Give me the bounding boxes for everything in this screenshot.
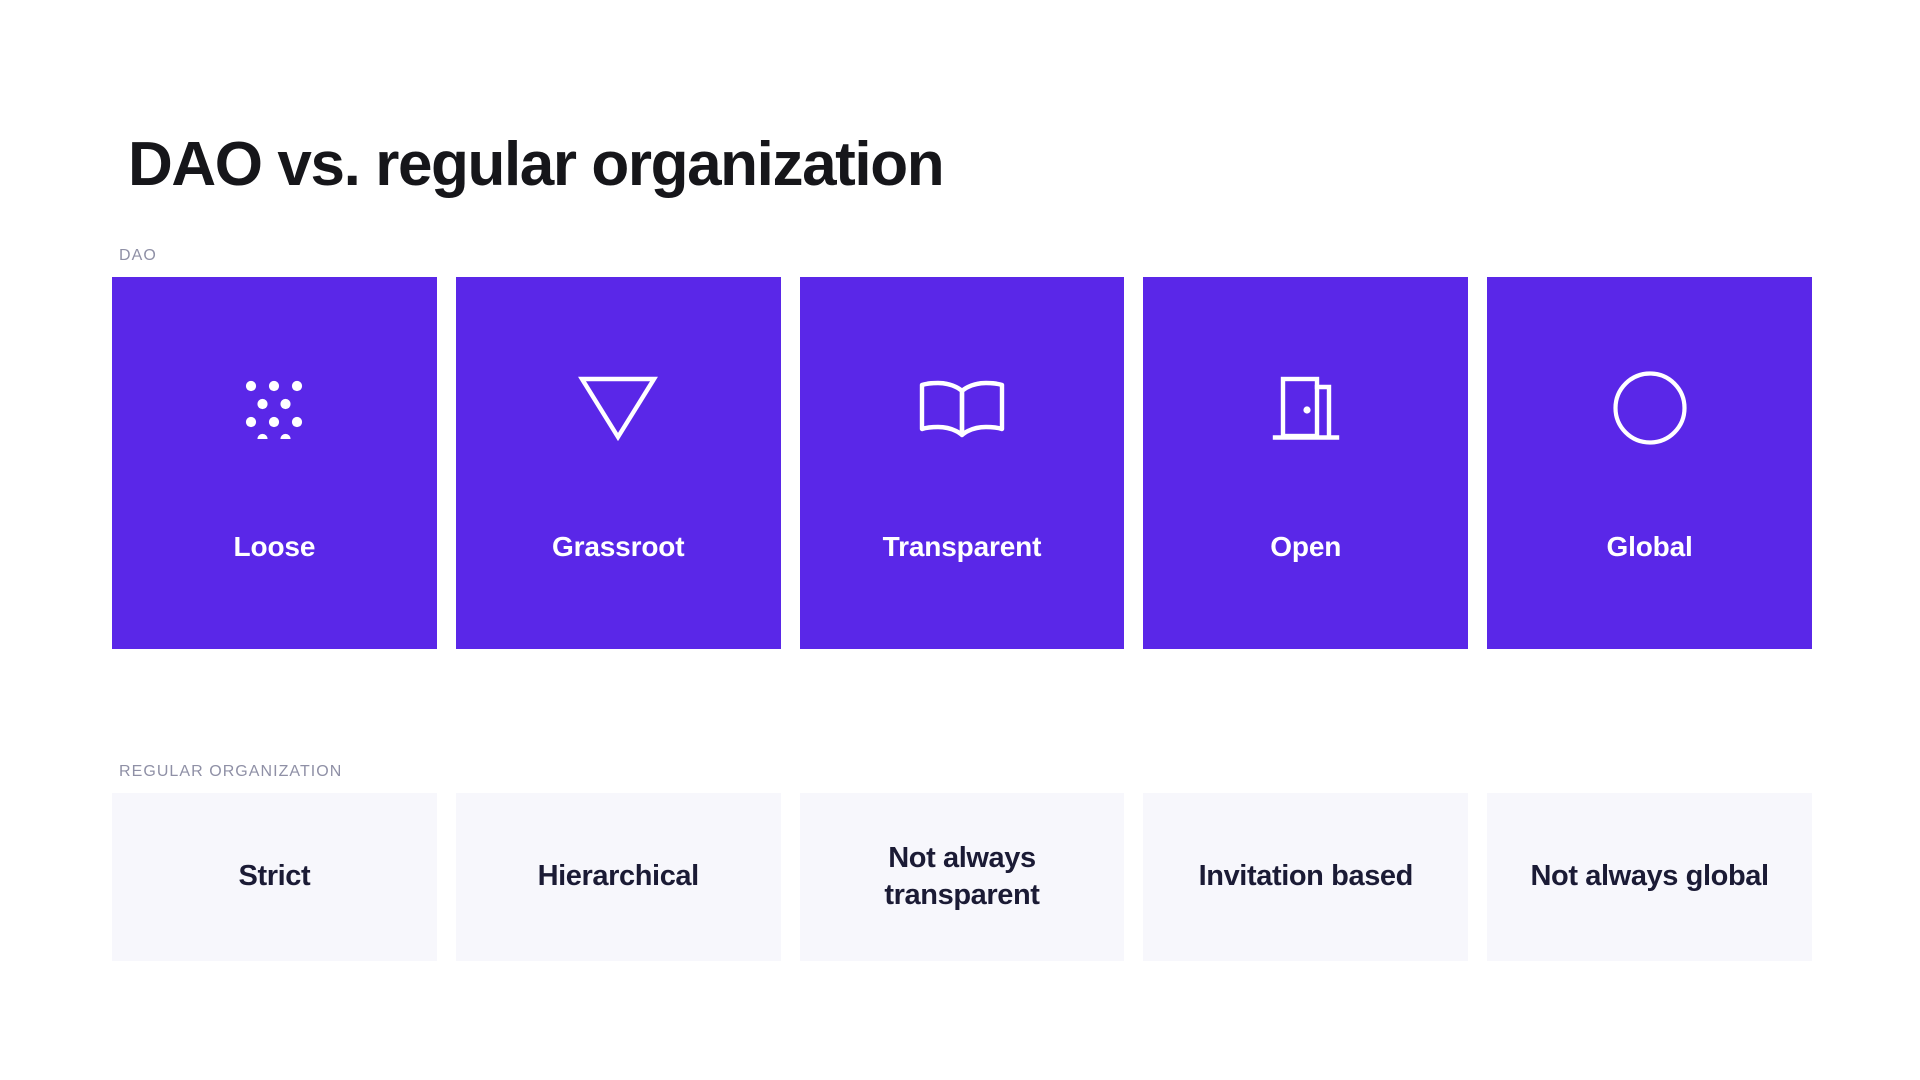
regular-card-label: Strict (239, 858, 311, 895)
regular-card-invitation-based[interactable]: Invitation based (1143, 793, 1468, 961)
dao-section-label: DAO (112, 248, 1812, 264)
regular-card-label: Not always global (1531, 858, 1769, 895)
dao-card-label: Global (1487, 529, 1812, 564)
open-door-icon (1272, 372, 1340, 444)
regular-card-label: Invitation based (1199, 858, 1413, 895)
icon-container (800, 277, 1125, 539)
icon-container (112, 277, 437, 539)
dao-card-global[interactable]: Global (1487, 277, 1812, 649)
open-book-icon (918, 376, 1006, 440)
triangle-down-icon (578, 373, 658, 443)
dao-card-open[interactable]: Open (1143, 277, 1468, 649)
circle-outline-icon (1612, 370, 1688, 446)
dao-card-label: Grassroot (456, 529, 781, 564)
dao-card-loose[interactable]: Loose (112, 277, 437, 649)
icon-container (1487, 277, 1812, 539)
icon-container (456, 277, 781, 539)
regular-card-hierarchical[interactable]: Hierarchical (456, 793, 781, 961)
scatter-dots-icon (243, 377, 305, 439)
regular-card-label: Not always transparent (822, 840, 1103, 914)
regular-card-strict[interactable]: Strict (112, 793, 437, 961)
dao-card-row: Loose Grassroot (112, 277, 1812, 649)
dao-card-grassroot[interactable]: Grassroot (456, 277, 781, 649)
dao-card-label: Transparent (800, 529, 1125, 564)
regular-org-section-label: REGULAR ORGANIZATION (112, 764, 1812, 780)
page-title: DAO vs. regular organization (128, 130, 943, 199)
dao-section: DAO (112, 248, 1812, 649)
dao-card-transparent[interactable]: Transparent (800, 277, 1125, 649)
regular-card-label: Hierarchical (538, 858, 699, 895)
dao-card-label: Loose (112, 529, 437, 564)
slide-root: DAO vs. regular organization DAO (0, 0, 1920, 1080)
regular-org-section: REGULAR ORGANIZATION Strict Hierarchical… (112, 764, 1812, 961)
dao-card-label: Open (1143, 529, 1468, 564)
regular-card-not-always-global[interactable]: Not always global (1487, 793, 1812, 961)
regular-card-not-always-transparent[interactable]: Not always transparent (800, 793, 1125, 961)
icon-container (1143, 277, 1468, 539)
regular-org-card-row: Strict Hierarchical Not always transpare… (112, 793, 1812, 961)
